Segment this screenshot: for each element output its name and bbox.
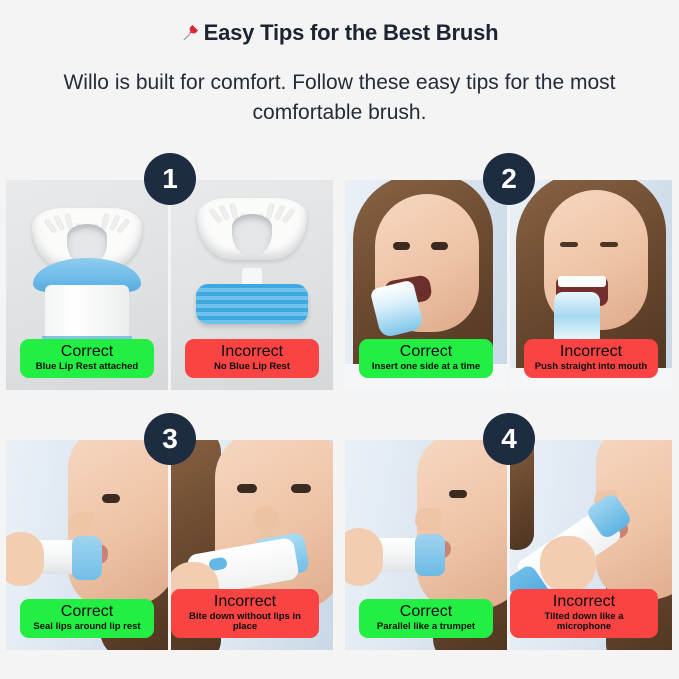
- tip-3-incorrect-pill: Incorrect Bite down without lips in plac…: [171, 589, 319, 638]
- blue-lip-rest-icon: [72, 536, 102, 580]
- pill-title: Correct: [367, 604, 485, 621]
- tip-2-correct-pill: Correct Insert one side at a time: [359, 339, 493, 378]
- tip-2-correct-image: Correct Insert one side at a time: [345, 180, 510, 390]
- tip-1-correct-pill: Correct Blue Lip Rest attached: [20, 339, 154, 378]
- tip-panel-2[interactable]: 2 Correct Insert one side at a time: [345, 180, 672, 390]
- tip-2-incorrect-image: Incorrect Push straight into mouth: [510, 180, 672, 390]
- hand-icon: [540, 536, 596, 592]
- pill-subtitle: Tilted down like a microphone: [518, 612, 650, 632]
- step-badge-3: 3: [144, 413, 196, 465]
- step-badge-4: 4: [483, 413, 535, 465]
- tip-4-incorrect-pill: Incorrect Tilted down like a microphone: [510, 589, 658, 638]
- pill-title: Incorrect: [518, 594, 650, 611]
- pill-title: Correct: [367, 344, 485, 361]
- step-badge-2: 2: [483, 153, 535, 205]
- tip-4-incorrect-image: Incorrect Tilted down like a microphone: [510, 440, 672, 650]
- tip-4-correct-pill: Correct Parallel like a trumpet: [359, 599, 493, 638]
- tip-3-incorrect-image: Incorrect Bite down without lips in plac…: [171, 440, 333, 650]
- pill-title: Incorrect: [179, 594, 311, 611]
- tip-panel-3[interactable]: 3 Correct: [6, 440, 333, 650]
- tip-1-correct-image: Correct Blue Lip Rest attached: [6, 180, 171, 390]
- page-title: Easy Tips for the Best Brush: [0, 20, 679, 48]
- tip-1-incorrect-pill: Incorrect No Blue Lip Rest: [185, 339, 319, 378]
- pill-subtitle: Blue Lip Rest attached: [28, 362, 146, 372]
- tip-3-correct-pill: Correct Seal lips around lip rest: [20, 599, 154, 638]
- pill-title: Incorrect: [193, 344, 311, 361]
- pill-subtitle: Seal lips around lip rest: [28, 622, 146, 632]
- pushpin-icon: [181, 22, 200, 48]
- tip-2-incorrect-pill: Incorrect Push straight into mouth: [524, 339, 658, 378]
- tip-panel-4[interactable]: 4 Correct: [345, 440, 672, 650]
- pill-subtitle: Push straight into mouth: [532, 362, 650, 372]
- pill-title: Correct: [28, 604, 146, 621]
- hand-icon: [345, 528, 383, 586]
- page-title-text: Easy Tips for the Best Brush: [204, 20, 499, 45]
- tip-3-correct-image: Correct Seal lips around lip rest: [6, 440, 171, 650]
- page-subtitle: Willo is built for comfort. Follow these…: [28, 68, 651, 128]
- tip-4-correct-image: Correct Parallel like a trumpet: [345, 440, 510, 650]
- step-badge-1: 1: [144, 153, 196, 205]
- pill-subtitle: Bite down without lips in place: [179, 612, 311, 632]
- pill-subtitle: Insert one side at a time: [367, 362, 485, 372]
- brush-head-detached-icon: [197, 198, 307, 260]
- blue-ring-base-icon: [196, 284, 308, 324]
- pill-subtitle: No Blue Lip Rest: [193, 362, 311, 372]
- tip-1-incorrect-image: Incorrect No Blue Lip Rest: [171, 180, 333, 390]
- pill-title: Incorrect: [532, 344, 650, 361]
- infographic-page: Easy Tips for the Best Brush Willo is bu…: [0, 0, 679, 679]
- brush-handle-icon: [45, 285, 129, 345]
- hand-icon: [6, 532, 44, 586]
- blue-lip-rest-icon: [415, 534, 445, 576]
- pill-subtitle: Parallel like a trumpet: [367, 622, 485, 632]
- tip-panel-1[interactable]: 1: [6, 180, 333, 390]
- brush-device-icon: [554, 292, 600, 346]
- pill-title: Correct: [28, 344, 146, 361]
